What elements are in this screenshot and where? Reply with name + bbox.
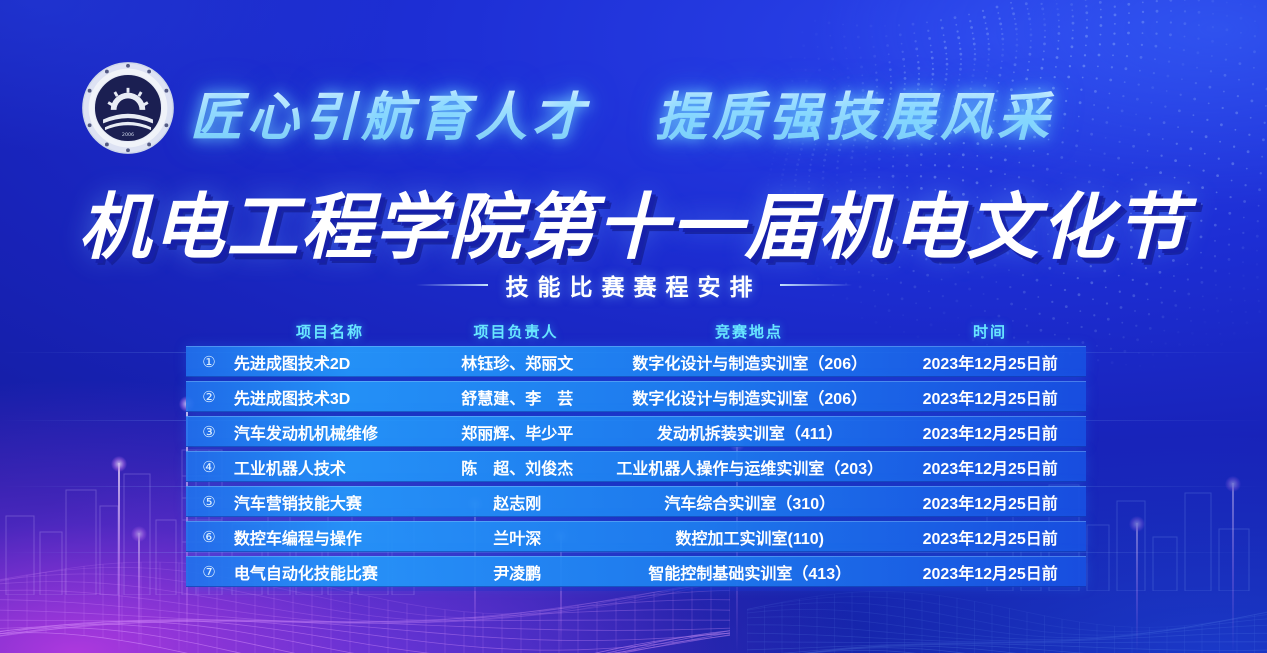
row-index: ⑥ — [186, 528, 232, 546]
table-row[interactable]: ③ 汽车发动机机械维修 郑丽辉、毕少平 发动机拆装实训室（411） 2023年1… — [186, 416, 1086, 447]
column-header-time: 时间 — [894, 321, 1086, 342]
row-place: 汽车综合实训室（310） — [605, 490, 894, 514]
row-place: 数字化设计与制造实训室（206） — [605, 385, 894, 409]
row-time: 2023年12月25日前 — [894, 490, 1086, 514]
row-time: 2023年12月25日前 — [894, 420, 1086, 444]
slogan-right: 提质强技展风采 — [655, 75, 1054, 150]
subtitle-rule-right — [780, 284, 852, 286]
row-leader: 陈 超、刘俊杰 — [429, 455, 605, 479]
subtitle-block: 技能比赛赛程安排 — [0, 268, 1267, 302]
row-leader: 林钰珍、郑丽文 — [429, 350, 605, 374]
table-row[interactable]: ⑦ 电气自动化技能比赛 尹凌鹏 智能控制基础实训室（413） 2023年12月2… — [186, 556, 1086, 587]
column-header-leader: 项目负责人 — [428, 321, 604, 342]
row-time: 2023年12月25日前 — [894, 350, 1086, 374]
column-header-name: 项目名称 — [232, 321, 428, 342]
row-place: 智能控制基础实训室（413） — [605, 560, 894, 584]
row-leader: 兰叶深 — [429, 525, 605, 549]
row-name: 汽车营销技能大赛 — [232, 490, 430, 514]
row-index: ⑦ — [186, 563, 232, 581]
row-leader: 舒慧建、李 芸 — [429, 385, 605, 409]
table-row[interactable]: ⑤ 汽车营销技能大赛 赵志刚 汽车综合实训室（310） 2023年12月25日前 — [186, 486, 1086, 517]
row-name: 汽车发动机机械维修 — [232, 420, 430, 444]
row-time: 2023年12月25日前 — [894, 455, 1086, 479]
row-index: ④ — [186, 458, 232, 476]
row-place: 发动机拆装实训室（411） — [605, 420, 894, 444]
row-time: 2023年12月25日前 — [894, 385, 1086, 409]
table-header-row: 项目名称 项目负责人 竞赛地点 时间 — [186, 316, 1086, 346]
column-header-place: 竞赛地点 — [604, 321, 894, 342]
poster-header: 2006 匠心引航育人才 提质强技展风采 机电工程学院第十一届机电文化节 技能比… — [0, 0, 1267, 300]
row-index: ① — [186, 353, 232, 371]
row-index: ⑤ — [186, 493, 232, 511]
table-row[interactable]: ① 先进成图技术2D 林钰珍、郑丽文 数字化设计与制造实训室（206） 2023… — [186, 346, 1086, 377]
schedule-table: 项目名称 项目负责人 竞赛地点 时间 ① 先进成图技术2D 林钰珍、郑丽文 数字… — [186, 316, 1086, 591]
row-name: 先进成图技术2D — [232, 350, 430, 374]
row-leader: 尹凌鹏 — [429, 560, 605, 584]
row-place: 工业机器人操作与运维实训室（203） — [605, 455, 894, 479]
calligraphy-slogan: 匠心引航育人才 提质强技展风采 — [190, 74, 1090, 150]
row-index: ② — [186, 388, 232, 406]
row-place: 数字化设计与制造实训室（206） — [605, 350, 894, 374]
row-leader: 赵志刚 — [429, 490, 605, 514]
row-name: 工业机器人技术 — [232, 455, 430, 479]
row-time: 2023年12月25日前 — [894, 560, 1086, 584]
table-row[interactable]: ② 先进成图技术3D 舒慧建、李 芸 数字化设计与制造实训室（206） 2023… — [186, 381, 1086, 412]
table-row[interactable]: ⑥ 数控车编程与操作 兰叶深 数控加工实训室(110) 2023年12月25日前 — [186, 521, 1086, 552]
poster-canvas: 2006 匠心引航育人才 提质强技展风采 机电工程学院第十一届机电文化节 技能比… — [0, 0, 1267, 653]
row-leader: 郑丽辉、毕少平 — [429, 420, 605, 444]
row-name: 数控车编程与操作 — [232, 525, 430, 549]
row-place: 数控加工实训室(110) — [605, 525, 894, 549]
row-name: 先进成图技术3D — [232, 385, 430, 409]
table-row[interactable]: ④ 工业机器人技术 陈 超、刘俊杰 工业机器人操作与运维实训室（203） 202… — [186, 451, 1086, 482]
slogan-left: 匠心引航育人才 — [190, 75, 589, 150]
row-index: ③ — [186, 423, 232, 441]
row-time: 2023年12月25日前 — [894, 525, 1086, 549]
page-title: 机电工程学院第十一届机电文化节 — [0, 168, 1267, 273]
subtitle: 技能比赛赛程安排 — [506, 268, 762, 302]
college-emblem-icon: 2006 — [80, 60, 176, 156]
svg-text:2006: 2006 — [122, 132, 134, 138]
subtitle-rule-left — [416, 284, 488, 286]
row-name: 电气自动化技能比赛 — [232, 560, 430, 584]
